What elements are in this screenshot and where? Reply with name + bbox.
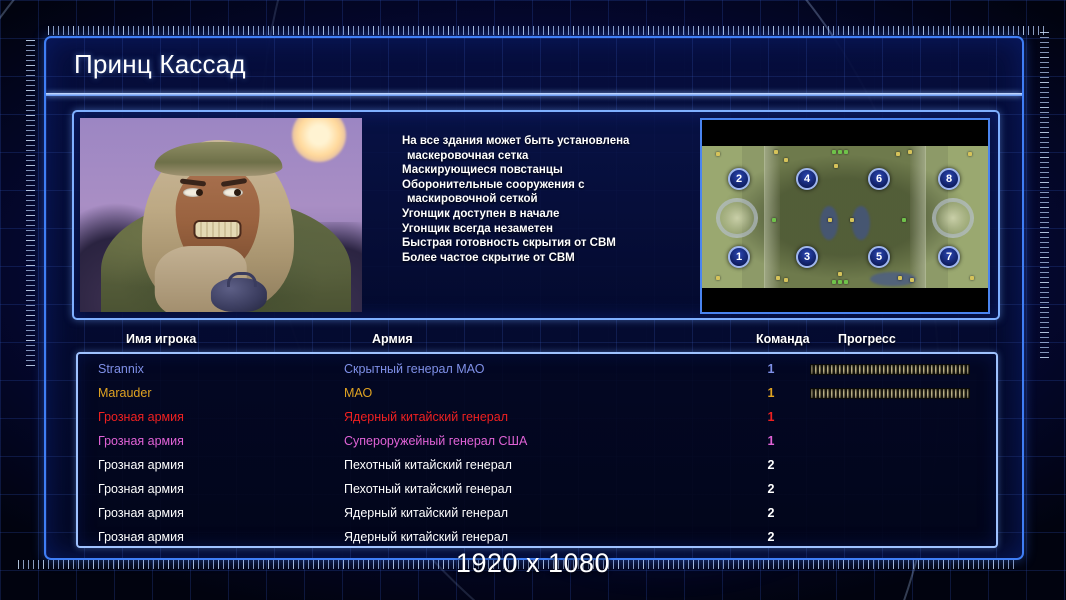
portrait-teeth — [195, 222, 239, 237]
player-progress — [810, 436, 970, 447]
map-prop — [968, 152, 972, 156]
player-team: 1 — [758, 386, 784, 400]
progress-bar — [810, 364, 970, 375]
portrait-pupil-left — [196, 189, 203, 196]
title-bar: Принц Кассад — [46, 38, 1022, 94]
map-crater-left — [716, 198, 758, 238]
player-army: Ядерный китайский генерал — [344, 530, 508, 544]
ability-line: Более частое скрытие от СВМ — [402, 251, 702, 266]
map-prop — [908, 150, 912, 154]
map-cliff-right — [910, 146, 926, 288]
column-header-player-name: Имя игрока — [126, 332, 196, 346]
map-prop — [832, 280, 836, 284]
ability-line: Угонщик всегда незаметен — [402, 222, 702, 237]
ability-line: Быстрая готовность скрытия от СВМ — [402, 236, 702, 251]
map-prop — [896, 152, 900, 156]
map-prop — [784, 278, 788, 282]
ability-line: маскеровочная сетка — [402, 149, 702, 164]
player-progress — [810, 484, 970, 495]
table-row[interactable]: Грозная армияПехотный китайский генерал2 — [78, 477, 996, 501]
general-portrait — [80, 118, 362, 312]
player-team: 1 — [758, 434, 784, 448]
map-prop — [838, 280, 842, 284]
map-prop — [772, 218, 776, 222]
player-army: Пехотный китайский генерал — [344, 458, 512, 472]
map-prop — [838, 272, 842, 276]
ability-line: маскировочной сеткой — [402, 192, 702, 207]
map-cliff-left — [764, 146, 780, 288]
player-list[interactable]: StrannixСкрытный генерал МАО1MarauderМАО… — [76, 352, 998, 548]
frame-ruler-left — [26, 40, 35, 370]
player-team: 1 — [758, 362, 784, 376]
map-prop — [910, 278, 914, 282]
player-name: Грозная армия — [98, 482, 184, 496]
table-row[interactable]: Грозная армияЯдерный китайский генерал2 — [78, 525, 996, 548]
player-army: Скрытный генерал МАО — [344, 362, 484, 376]
map-prop — [774, 150, 778, 154]
map-prop — [784, 158, 788, 162]
map-start-position-1[interactable]: 1 — [728, 246, 750, 268]
map-preview: 24681357 — [700, 118, 990, 314]
map-start-position-4[interactable]: 4 — [796, 168, 818, 190]
map-prop — [850, 218, 854, 222]
ability-line: Маскирующиеся повстанцы — [402, 163, 702, 178]
player-name: Грозная армия — [98, 506, 184, 520]
frame-ruler-top — [48, 26, 1048, 35]
portrait-pupil-right — [234, 189, 241, 196]
column-header-team: Команда — [756, 332, 810, 346]
player-name: Грозная армия — [98, 434, 184, 448]
player-army: Ядерный китайский генерал — [344, 506, 508, 520]
player-progress — [810, 364, 970, 375]
map-prop — [834, 164, 838, 168]
player-army: Пехотный китайский генерал — [344, 482, 512, 496]
player-progress — [810, 412, 970, 423]
map-prop — [844, 150, 848, 154]
player-army: Ядерный китайский генерал — [344, 410, 508, 424]
player-army: МАО — [344, 386, 372, 400]
page-title: Принц Кассад — [74, 49, 246, 80]
map-start-position-2[interactable]: 2 — [728, 168, 750, 190]
ability-line: Оборонительные сооружения с — [402, 178, 702, 193]
map-prop — [832, 150, 836, 154]
map-start-position-5[interactable]: 5 — [868, 246, 890, 268]
table-row[interactable]: Грозная армияПехотный китайский генерал2 — [78, 453, 996, 477]
portrait-kettle — [211, 278, 267, 312]
map-start-position-6[interactable]: 6 — [868, 168, 890, 190]
player-rows: StrannixСкрытный генерал МАО1MarauderМАО… — [78, 357, 996, 548]
player-table-header: Имя игрока Армия Команда Прогресс — [76, 332, 998, 350]
ability-line: На все здания может быть установлена — [402, 134, 702, 149]
map-start-position-3[interactable]: 3 — [796, 246, 818, 268]
column-header-army: Армия — [372, 332, 413, 346]
player-name: Грозная армия — [98, 410, 184, 424]
map-water-center-right — [852, 206, 870, 240]
map-crater-right — [932, 198, 974, 238]
map-start-position-7[interactable]: 7 — [938, 246, 960, 268]
map-prop — [716, 276, 720, 280]
column-header-progress: Прогресс — [838, 332, 896, 346]
player-name: Strannix — [98, 362, 144, 376]
progress-bar — [810, 388, 970, 399]
map-prop — [844, 280, 848, 284]
player-name: Грозная армия — [98, 458, 184, 472]
player-team: 2 — [758, 482, 784, 496]
map-start-position-8[interactable]: 8 — [938, 168, 960, 190]
table-row[interactable]: Грозная армияСупероружейный генерал США1 — [78, 429, 996, 453]
table-row[interactable]: StrannixСкрытный генерал МАО1 — [78, 357, 996, 381]
player-name: Грозная армия — [98, 530, 184, 544]
player-progress — [810, 532, 970, 543]
player-team: 2 — [758, 506, 784, 520]
app-background: Принц Кассад — [0, 0, 1066, 600]
player-team: 2 — [758, 458, 784, 472]
player-progress — [810, 460, 970, 471]
player-progress — [810, 388, 970, 399]
map-prop — [970, 276, 974, 280]
map-prop — [902, 218, 906, 222]
table-row[interactable]: MarauderМАО1 — [78, 381, 996, 405]
player-name: Marauder — [98, 386, 152, 400]
game-lobby-window: Принц Кассад — [44, 36, 1024, 560]
general-ability-list: На все здания может быть установленамаск… — [402, 134, 702, 265]
frame-ruler-right — [1040, 32, 1049, 362]
player-team: 2 — [758, 530, 784, 544]
map-prop — [776, 276, 780, 280]
ability-line: Угонщик доступен в начале — [402, 207, 702, 222]
map-prop — [716, 152, 720, 156]
player-progress — [810, 508, 970, 519]
table-row[interactable]: Грозная армияЯдерный китайский генерал1 — [78, 405, 996, 429]
player-team: 1 — [758, 410, 784, 424]
general-info-panel: На все здания может быть установленамаск… — [72, 110, 1000, 320]
resolution-watermark: 1920 x 1080 — [0, 548, 1066, 579]
player-army: Супероружейный генерал США — [344, 434, 527, 448]
table-row[interactable]: Грозная армияЯдерный китайский генерал2 — [78, 501, 996, 525]
map-prop — [828, 218, 832, 222]
title-divider — [46, 93, 1022, 96]
map-prop — [838, 150, 842, 154]
map-water-center-left — [820, 206, 838, 240]
map-prop — [898, 276, 902, 280]
